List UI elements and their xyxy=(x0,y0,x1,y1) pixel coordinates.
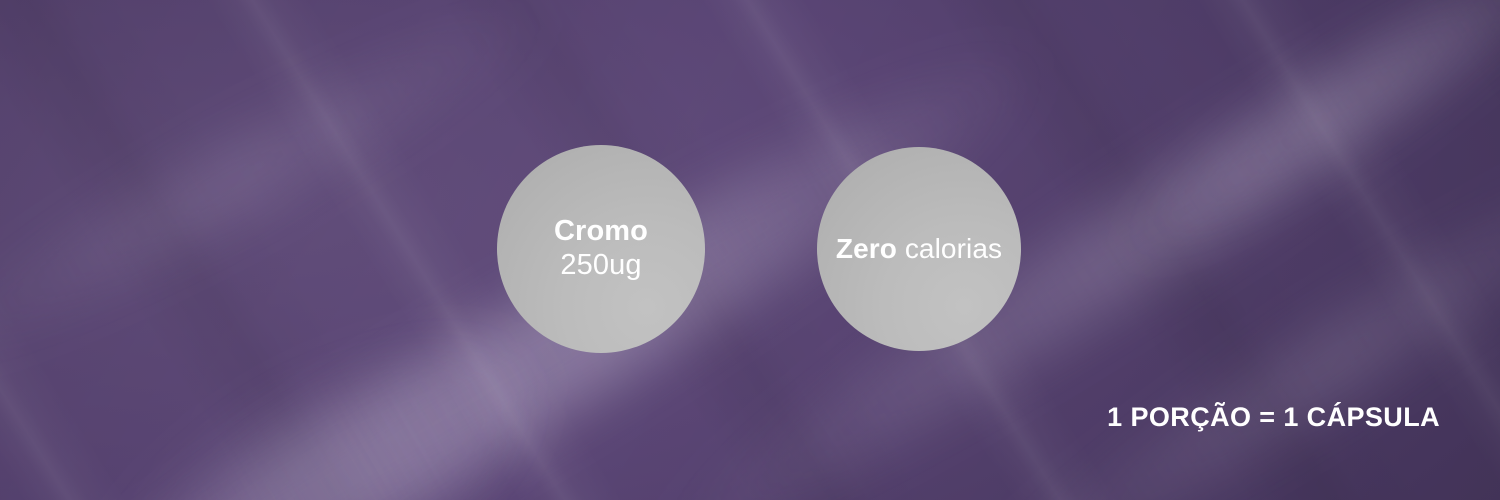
feature-bubble-cromo-text: Cromo 250ug xyxy=(548,215,654,282)
feature-bubble-cromo: Cromo 250ug xyxy=(497,145,705,353)
feature-bubble-zero-calorias: Zero calorias xyxy=(817,147,1021,351)
feature-bubble-zero-subtitle: calorias xyxy=(905,233,1002,264)
feature-bubble-cromo-title: Cromo xyxy=(554,215,648,247)
feature-bubble-cromo-dosage: 250ug xyxy=(560,249,641,281)
product-feature-banner: Cromo 250ug Zero calorias 1 PORÇÃO = 1 C… xyxy=(0,0,1500,500)
serving-size-note: 1 PORÇÃO = 1 CÁPSULA xyxy=(1107,402,1440,433)
feature-bubble-zero-calorias-text: Zero calorias xyxy=(830,233,1008,265)
feature-bubble-zero-title: Zero xyxy=(836,233,897,264)
